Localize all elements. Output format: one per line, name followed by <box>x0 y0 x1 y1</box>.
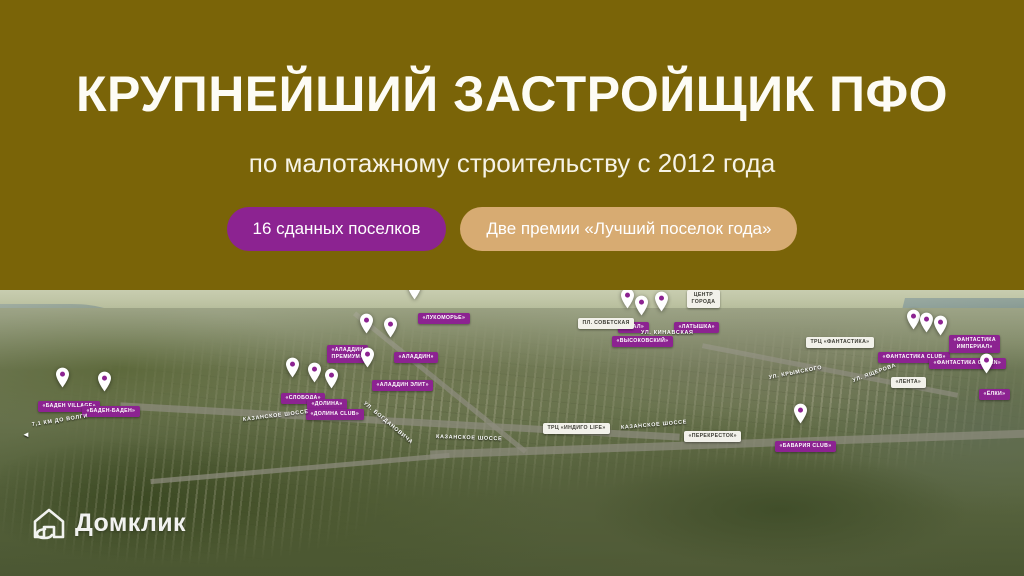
map-label-бавария-club[interactable]: «БАВАРИЯ CLUB» <box>775 441 836 452</box>
map-place-лента[interactable]: «ЛЕНТА» <box>891 377 926 388</box>
badge-row: 16 сданных поселков Две премии «Лучший п… <box>227 207 798 251</box>
promo-banner-page: КРУПНЕЙШИЙ ЗАСТРОЙЩИК ПФО по малотажному… <box>0 0 1024 576</box>
headline-banner: КРУПНЕЙШИЙ ЗАСТРОЙЩИК ПФО по малотажному… <box>0 0 1024 290</box>
atmospheric-haze <box>0 290 1024 370</box>
map-pin-фантастика-империал[interactable] <box>933 315 948 336</box>
map-label-долина-club[interactable]: «ДОЛИНА CLUB» <box>306 409 364 420</box>
map-place-пл-советская[interactable]: ПЛ. СОВЕТСКАЯ <box>578 318 634 329</box>
map-place-трц-фантастика[interactable]: ТРЦ «ФАНТАСТИКА» <box>806 337 874 348</box>
map-pin-аладдин[interactable] <box>383 317 398 338</box>
map-label-ёлки[interactable]: «ЁЛКИ» <box>979 389 1010 400</box>
page-subtitle: по малотажному строительству с 2012 года <box>249 150 776 176</box>
map-pin-слобода[interactable] <box>285 357 300 378</box>
map-label-фантастика-green[interactable]: «ФАНТАСТИКА GREEN» <box>929 358 1006 369</box>
map-pin-аладдин-элит[interactable] <box>360 347 375 368</box>
map-place-трц-индиго-life[interactable]: ТРЦ «ИНДИГО LIFE» <box>543 423 610 434</box>
badge-awards[interactable]: Две премии «Лучший поселок года» <box>460 207 797 251</box>
map-pin-долина-club[interactable] <box>324 368 339 389</box>
map-label-баден-баден[interactable]: «БАДЕН-БАДЕН» <box>82 406 140 417</box>
map-street-ул-кинавская: УЛ. КИНАВСКАЯ <box>641 330 694 336</box>
distance-arrow-icon: ◄ <box>22 430 30 439</box>
map-pin-аладдин-премиум[interactable] <box>359 313 374 334</box>
map-place-центр-города[interactable]: ЦЕНТРГОРОДА <box>687 290 720 308</box>
map-pin-баден-баден[interactable] <box>97 371 112 392</box>
map-pin-долина[interactable] <box>307 362 322 383</box>
map-pin-баден-village[interactable] <box>55 367 70 388</box>
map-label-аладдин-элит[interactable]: «АЛАДДИН ЭЛИТ» <box>372 380 433 391</box>
map-pin-бавария-club[interactable] <box>793 403 808 424</box>
map-label-фантастика-империал[interactable]: «ФАНТАСТИКАИМПЕРИАЛ» <box>949 335 1000 353</box>
map-pin-латышка[interactable] <box>654 291 669 312</box>
map-pin-ёлки[interactable] <box>979 353 994 374</box>
aerial-map[interactable]: «БАДЕН VILLAGE»«БАДЕН-БАДЕН»«СЛОБОДА»«ДО… <box>0 290 1024 576</box>
page-title: КРУПНЕЙШИЙ ЗАСТРОЙЩИК ПФО <box>76 69 948 119</box>
map-pin-лукоморье[interactable] <box>407 290 422 300</box>
map-pin-урал[interactable] <box>620 290 635 309</box>
map-label-высоковский[interactable]: «ВЫСОКОВСКИЙ» <box>612 336 673 347</box>
aerial-photo <box>0 290 1024 576</box>
map-place-перекресток[interactable]: «ПЕРЕКРЕСТОК» <box>684 431 741 442</box>
map-label-лукоморье[interactable]: «ЛУКОМОРЬЕ» <box>418 313 470 324</box>
map-pin-фантастика-green[interactable] <box>919 312 934 333</box>
map-label-аладдин[interactable]: «АЛАДДИН» <box>394 352 438 363</box>
map-pin-высоковский[interactable] <box>634 295 649 316</box>
badge-delivered-villages[interactable]: 16 сданных поселков <box>227 207 447 251</box>
